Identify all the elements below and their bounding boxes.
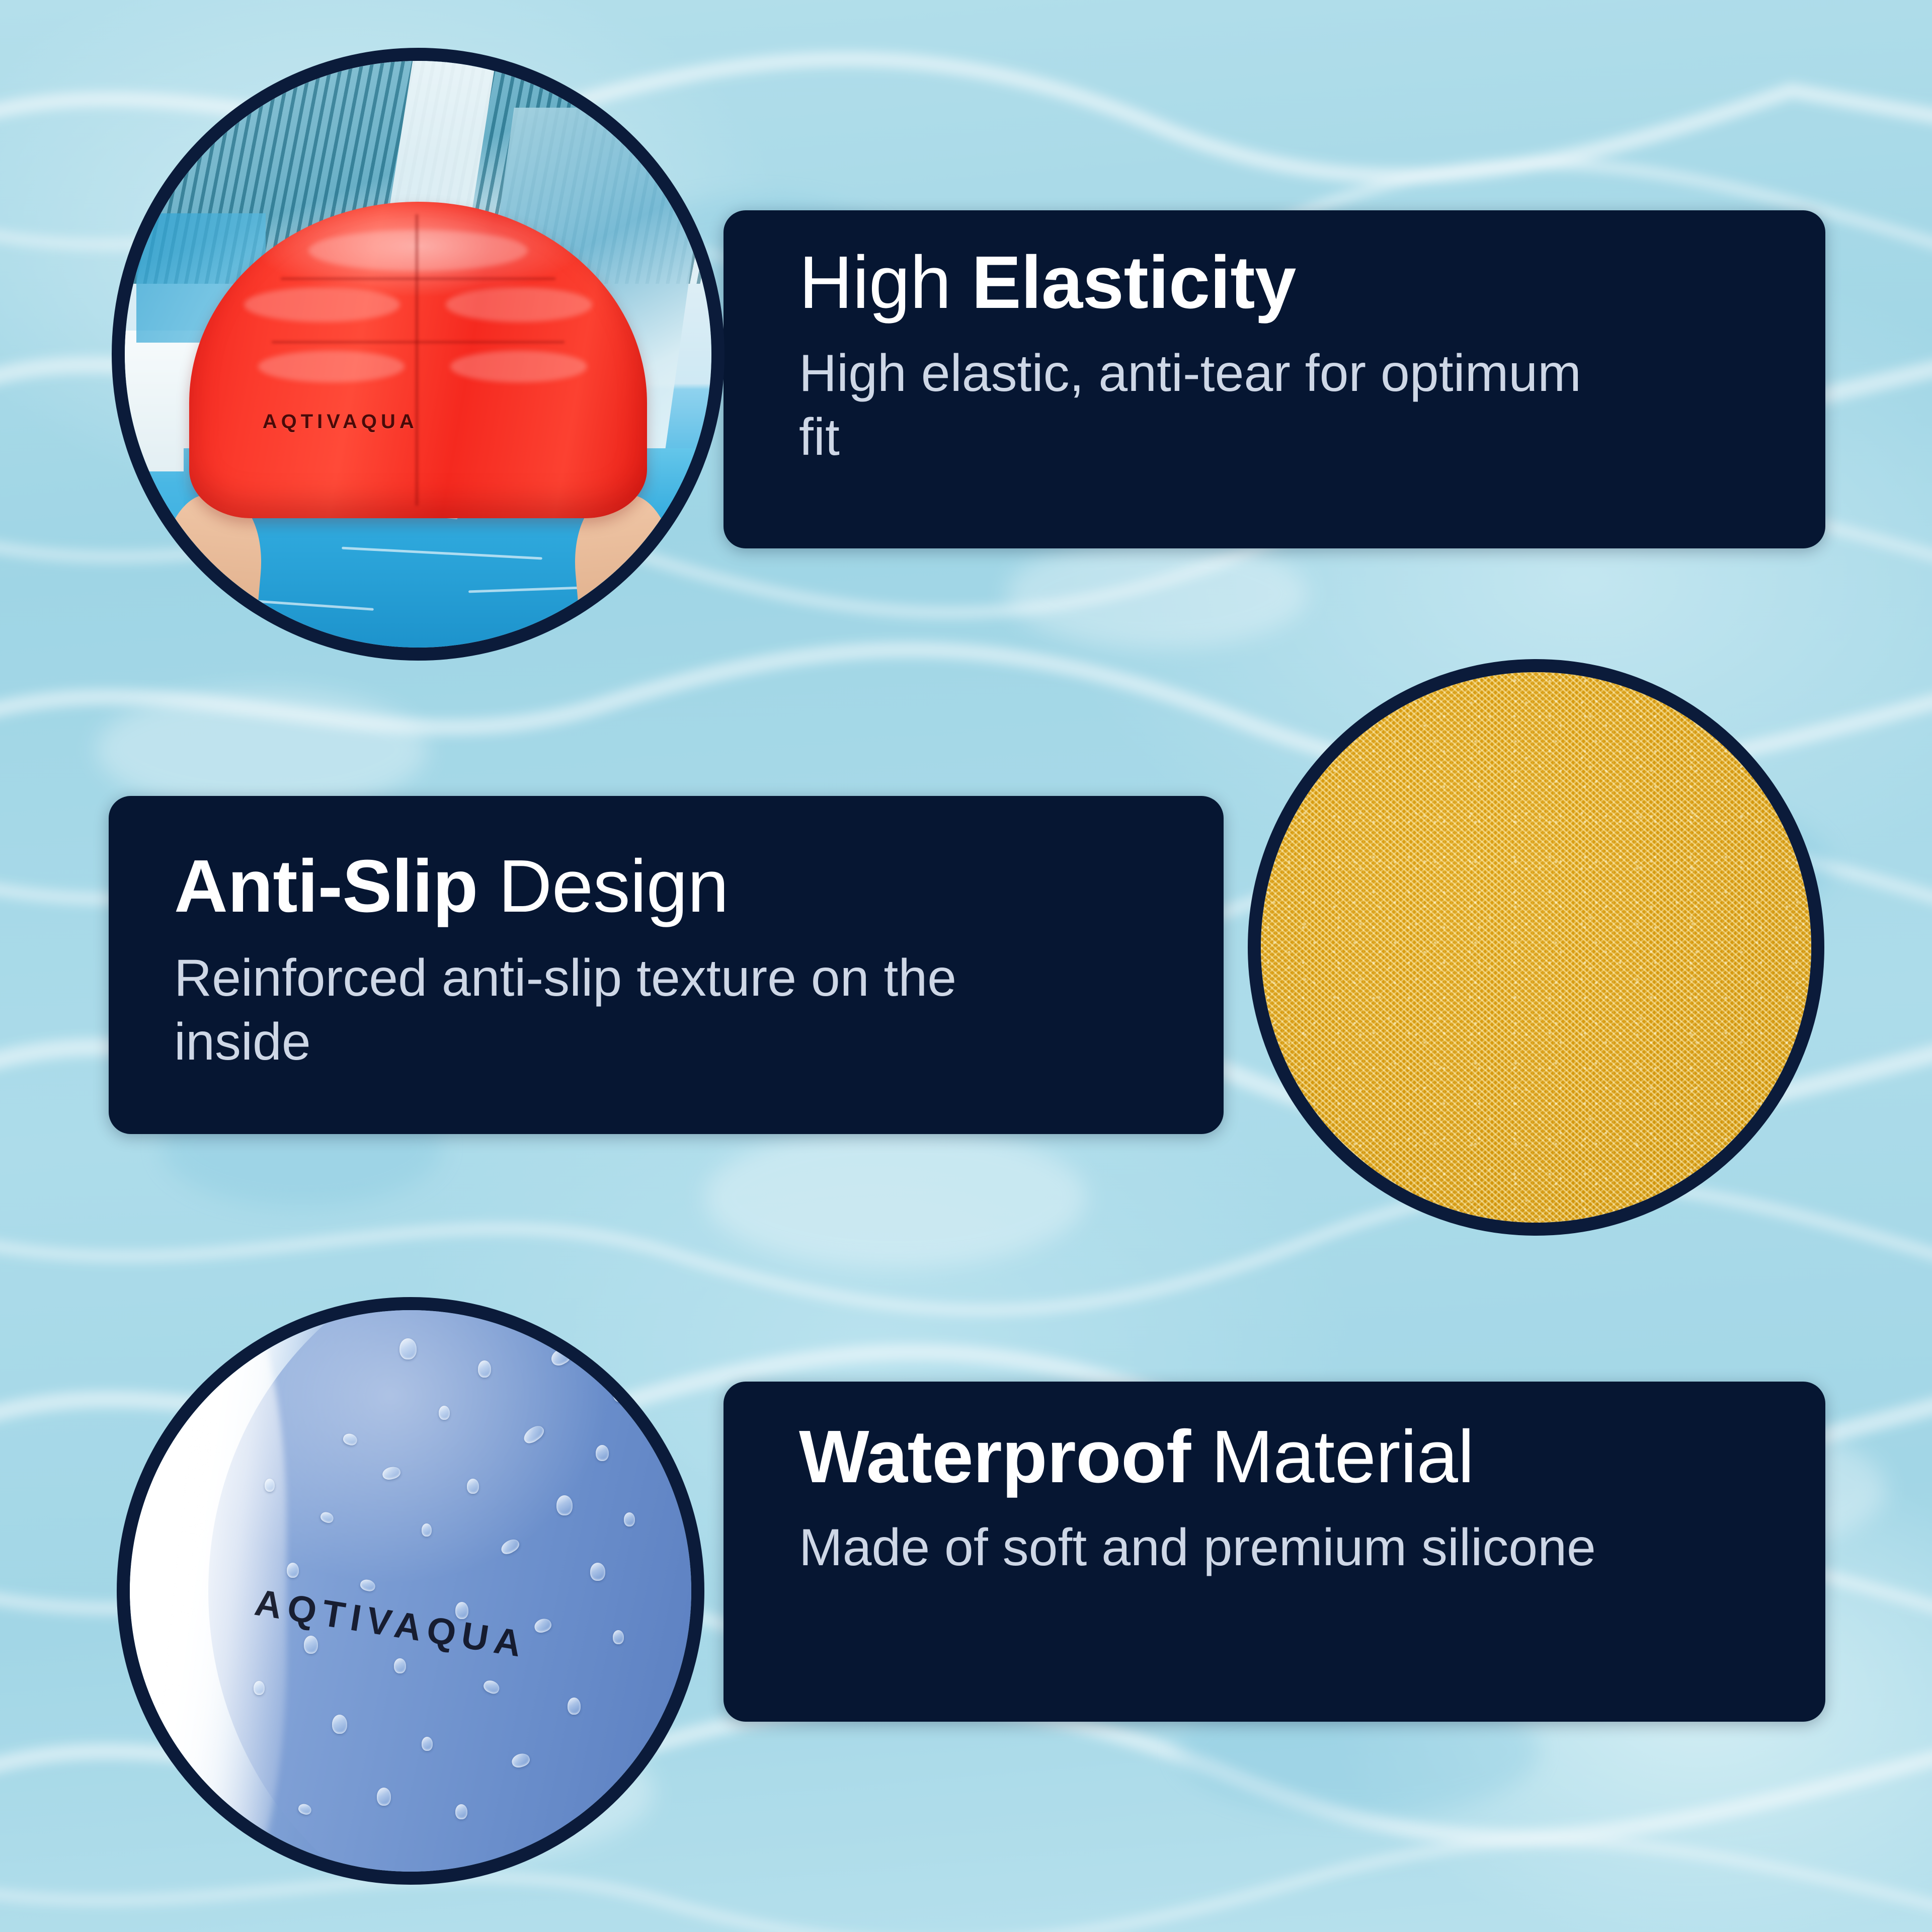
feature-description-waterproof: Made of soft and premium silicone: [799, 1516, 1644, 1580]
gold-sparkle-overlay: [1261, 672, 1811, 1223]
feature-title-light-antislip: Design: [478, 845, 729, 928]
feature-title-light-waterproof: Material: [1191, 1415, 1474, 1498]
feature-card-antislip-body: Anti-Slip Design Reinforced anti-slip te…: [174, 847, 1193, 1074]
feature-title-light-elasticity: High: [799, 241, 972, 324]
feature-card-elasticity-body: High Elasticity High elastic, anti-tear …: [799, 244, 1795, 469]
feature-card-elasticity: High Elasticity High elastic, anti-tear …: [723, 210, 1825, 548]
feature-card-antislip: Anti-Slip Design Reinforced anti-slip te…: [109, 796, 1224, 1134]
feature-title-bold-antislip: Anti-Slip: [174, 845, 478, 928]
feature-title-bold-waterproof: Waterproof: [799, 1415, 1191, 1498]
feature-description-antislip: Reinforced anti-slip texture on the insi…: [174, 946, 1039, 1074]
cap-brand-logo: AQTIVAQUA: [263, 411, 418, 433]
feature-description-elasticity: High elastic, anti-tear for optimum fit: [799, 342, 1584, 469]
feature-image-blue-swim-cap: AQTIVAQUA: [117, 1297, 704, 1885]
feature-card-waterproof: Waterproof Material Made of soft and pre…: [723, 1382, 1825, 1722]
feature-image-red-swim-cap: AQTIVAQUA: [112, 48, 725, 661]
feature-title-bold-elasticity: Elasticity: [972, 241, 1296, 324]
gold-texture-scene: [1261, 672, 1811, 1223]
feature-title-waterproof: Waterproof Material: [799, 1418, 1805, 1497]
feature-image-antislip-texture: [1248, 659, 1824, 1236]
feature-title-antislip: Anti-Slip Design: [174, 847, 1193, 926]
feature-card-waterproof-body: Waterproof Material Made of soft and pre…: [799, 1418, 1805, 1580]
blue-swim-cap-scene: AQTIVAQUA: [130, 1310, 691, 1872]
feature-title-elasticity: High Elasticity: [799, 244, 1795, 323]
red-swim-cap-scene: AQTIVAQUA: [125, 61, 711, 648]
